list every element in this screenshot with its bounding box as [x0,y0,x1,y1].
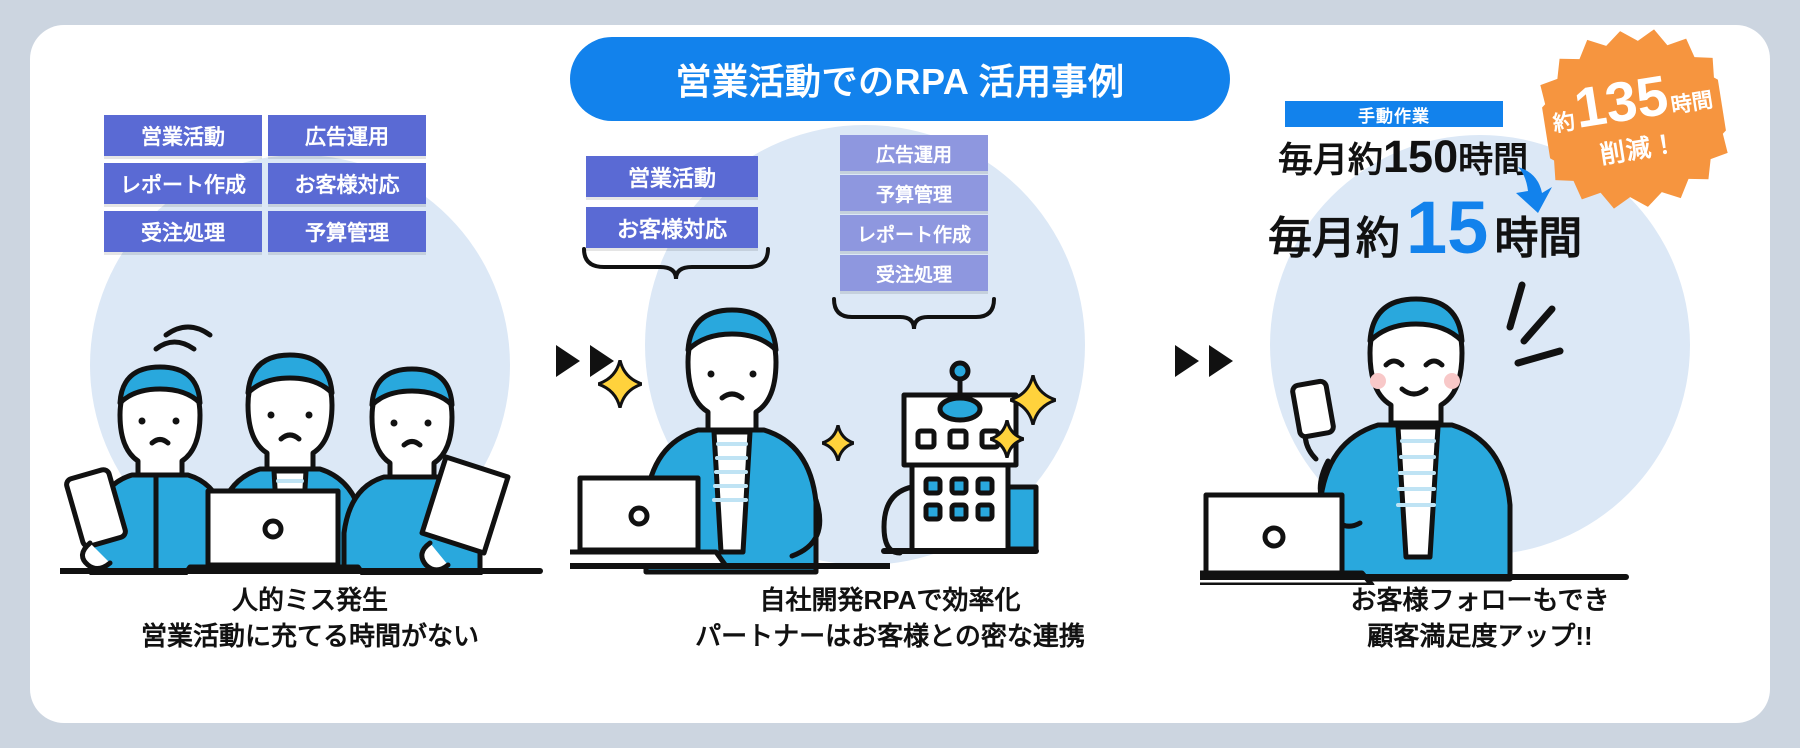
metric-after-prefix: 毎月約 [1268,202,1400,266]
tag-left-6: 予算管理 [268,211,426,252]
caption-left-line1: 人的ミス発生 [30,583,590,619]
metric-before: 毎月約150時間 [1278,131,1528,183]
tag-label: 予算管理 [876,180,952,207]
tag-robot-4: 受注処理 [840,255,988,291]
tag-human-2: お客様対応 [586,207,758,248]
panel-before: 営業活動 広告運用 レポート作成 お客様対応 受注処理 予算管理 [30,25,590,723]
caption-right: お客様フォローもでき 顧客満足度アップ!! [1190,583,1770,655]
caption-left-line2: 営業活動に充てる時間がない [30,619,590,655]
tag-human-1: 営業活動 [586,156,758,197]
tag-left-3: レポート作成 [104,163,262,204]
caption-right-line1: お客様フォローもでき [1190,583,1770,619]
caption-right-line2: 顧客満足度アップ!! [1190,619,1770,655]
brace-human [580,247,780,281]
tag-label: 営業活動 [141,121,225,151]
tag-label: レポート作成 [120,169,246,199]
infographic-stage: 営業活動でのRPA 活用事例 営業活動 広告運用 レポート作成 お客様対応 受注… [0,0,1800,748]
tag-robot-2: 予算管理 [840,175,988,211]
caption-middle-line1: 自社開発RPAで効率化 [590,583,1190,619]
tag-label: 受注処理 [141,217,225,247]
panel-after: 手動作業 毎月約150時間 毎月約15時間 約 135 時間 削減！ [1190,25,1770,723]
sparkle-icon [990,420,1024,458]
caption-middle-line2: パートナーはお客様との密な連携 [590,619,1190,655]
tag-robot-3: レポート作成 [840,215,988,251]
metric-after-suffix: 時間 [1494,202,1582,266]
illustration-overworked-team [60,275,560,575]
sparkle-icon [822,425,854,461]
caption-middle: 自社開発RPAで効率化 パートナーはお客様との密な連携 [590,583,1190,655]
illustration-satisfied-worker [1200,265,1660,585]
sparkle-icon [598,360,642,408]
tag-left-1: 営業活動 [104,115,262,156]
metric-after-number: 15 [1406,195,1488,262]
panel-rpa: 営業活動 お客様対応 広告運用 予算管理 レポート作成 受注処理 [590,25,1190,723]
tag-label: お客様対応 [617,212,727,244]
metric-before-number: 150 [1383,131,1458,182]
metric-before-prefix: 毎月約 [1278,141,1383,180]
manual-work-badge: 手動作業 [1285,101,1503,127]
caption-left: 人的ミス発生 営業活動に充てる時間がない [30,583,590,655]
tag-label: 営業活動 [628,161,716,193]
tag-label: 予算管理 [305,217,389,247]
tag-left-5: 受注処理 [104,211,262,252]
metric-after: 毎月約15時間 [1268,195,1582,266]
tag-label: お客様対応 [295,169,400,199]
tag-left-4: お客様対応 [268,163,426,204]
tag-label: レポート作成 [857,220,971,247]
sparkle-icon [1010,375,1056,425]
tag-robot-1: 広告運用 [840,135,988,171]
tag-left-2: 広告運用 [268,115,426,156]
tag-label: 広告運用 [876,140,952,167]
tag-label: 受注処理 [876,260,952,287]
tag-label: 広告運用 [305,121,389,151]
manual-work-label: 手動作業 [1358,102,1430,127]
